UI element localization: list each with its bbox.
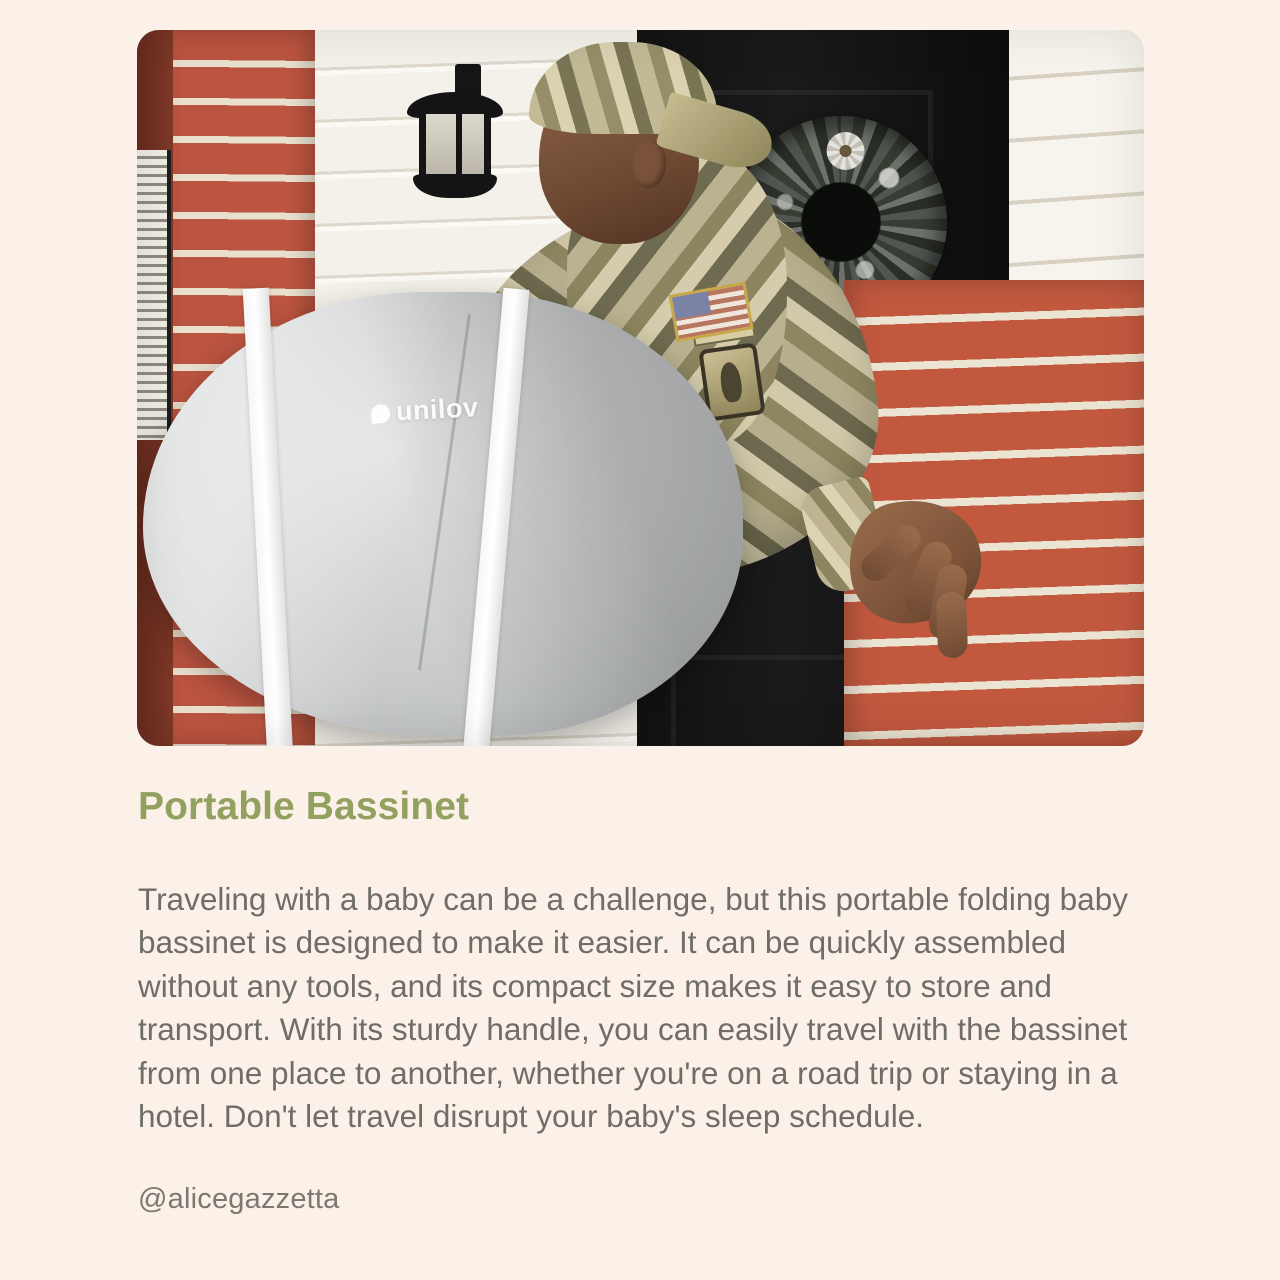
wall-vent-icon — [137, 150, 171, 440]
unilov-logo-mark-icon — [371, 404, 391, 424]
hero-scene: unilov — [137, 30, 1144, 746]
article-card: unilov Portable Bassinet Traveling with … — [0, 0, 1280, 1280]
porch-lantern-icon — [407, 92, 503, 200]
article-content: Portable Bassinet Traveling with a baby … — [138, 786, 1153, 1216]
bag-brand-label: unilov — [395, 392, 479, 426]
bag-shading — [143, 292, 743, 736]
hero-product-image[interactable]: unilov — [137, 30, 1144, 746]
page-title: Portable Bassinet — [138, 786, 1153, 829]
bag-brand-logo: unilov — [370, 392, 479, 429]
soldier-finger — [936, 591, 968, 658]
lantern-bottom — [413, 174, 497, 198]
credit-handle[interactable]: @alicegazzetta — [138, 1139, 1153, 1216]
bassinet-travel-bag: unilov — [143, 292, 743, 736]
lantern-glass — [419, 114, 491, 178]
wreath-flower-icon — [827, 132, 865, 170]
article-body: Traveling with a baby can be a challenge… — [138, 829, 1153, 1139]
